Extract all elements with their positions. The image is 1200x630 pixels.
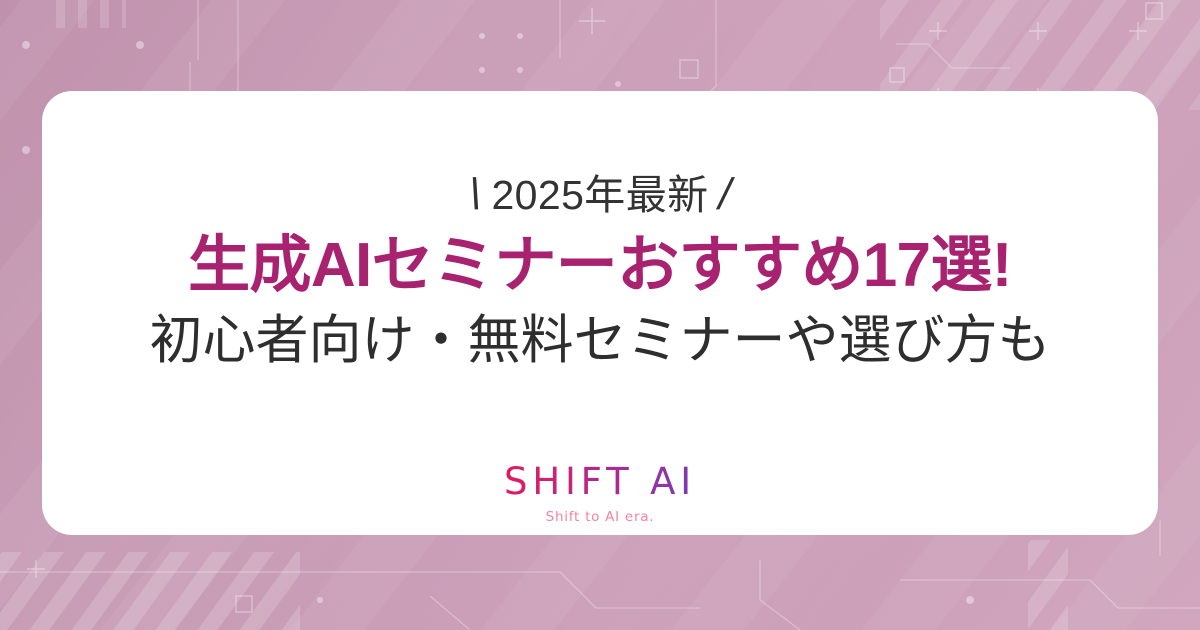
hatch-bottom-left xyxy=(0,552,300,630)
page-subtitle: 初心者向け・無料セミナーや選び方も xyxy=(150,312,1051,369)
hatch-top-left xyxy=(56,0,126,28)
eyebrow-slash-left: \ xyxy=(464,173,486,217)
eyebrow-text: 2025年最新 xyxy=(491,175,708,216)
logo-tagline: Shift to AI era. xyxy=(546,509,655,525)
banner-stage: \ 2025年最新 / 生成AIセミナーおすすめ17選! 初心者向け・無料セミナ… xyxy=(0,0,1200,630)
brand-logo: SHIFT AI Shift to AI era. xyxy=(42,463,1158,525)
eyebrow-line: \ 2025年最新 / xyxy=(469,173,731,217)
eyebrow-slash-right: / xyxy=(714,173,736,217)
page-title: 生成AIセミナーおすすめ17選! xyxy=(188,233,1012,298)
content-card: \ 2025年最新 / 生成AIセミナーおすすめ17選! 初心者向け・無料セミナ… xyxy=(42,91,1158,535)
logo-wordmark: SHIFT AI xyxy=(504,463,696,500)
hatch-bottom-right xyxy=(1028,540,1068,630)
